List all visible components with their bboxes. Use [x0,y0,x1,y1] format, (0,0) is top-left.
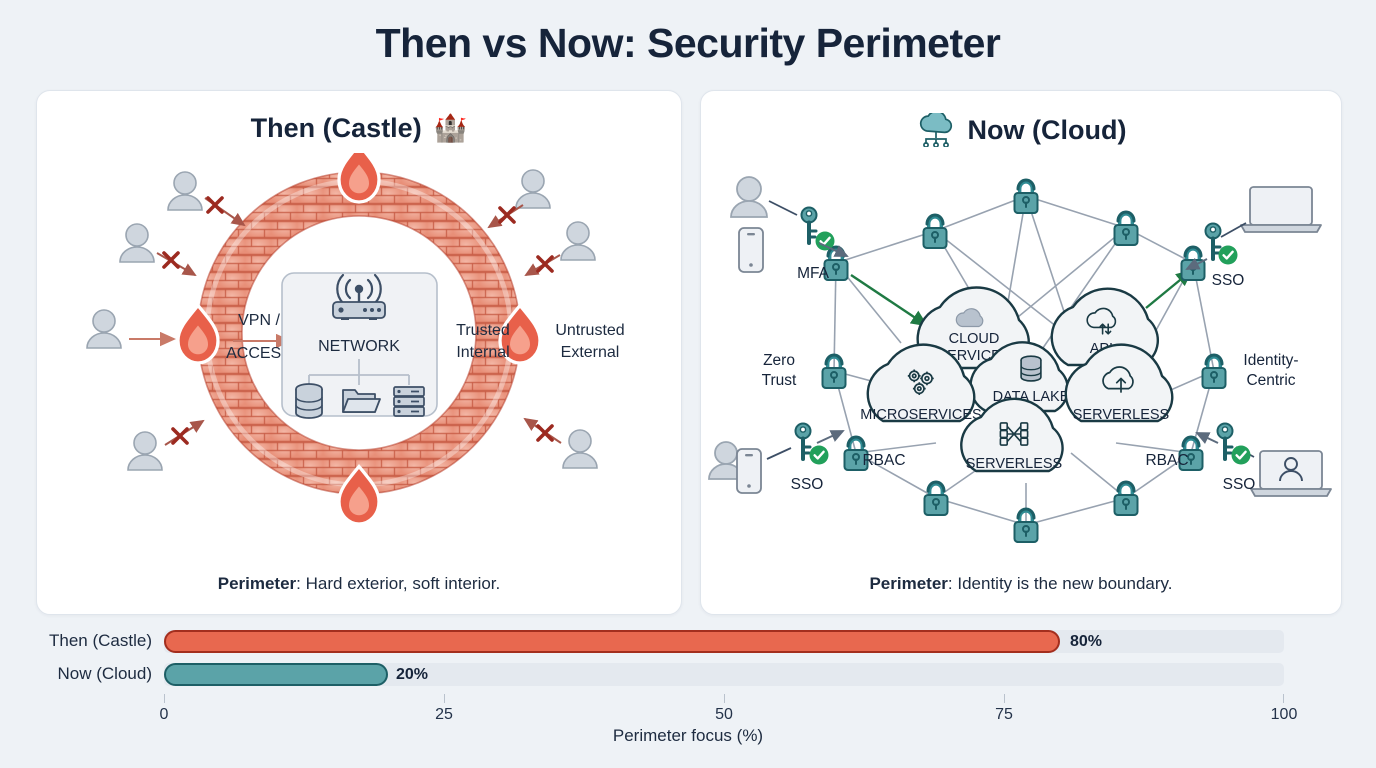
chart-row-now: Now (Cloud) 20% [0,659,1376,689]
panel-then-heading: Then (Castle) 🏰 [37,113,681,144]
perimeter-focus-chart: Then (Castle) 80% Now (Cloud) 20% 0 [0,626,1376,768]
cloud-label-serverless-right: SERVERLESS [1073,407,1169,423]
cloud-label-microservices: MICROSERVICES [860,407,981,423]
chart-bar-now [164,663,388,686]
untrusted-external-label-line2: External [561,344,620,361]
panel-now-caption: Perimeter: Identity is the new boundary. [701,574,1341,594]
user-icon [731,177,767,217]
chart-xtick-75: 75 [995,706,1013,724]
panel-then-heading-label: Then (Castle) [251,113,422,144]
panel-then-caption-label: Perimeter [218,574,296,593]
server-icon [394,387,424,416]
chart-track-now [164,663,1284,686]
actor-sso-right-top: SSO [1187,187,1321,289]
actor-sso-left: SSO RBAC [709,424,906,494]
vpn-access-label-line1: VPN / [238,312,280,329]
panel-now-cloud: Now (Cloud) [700,90,1342,615]
phone-icon [737,449,761,493]
castle-icon: 🏰 [434,115,468,142]
castle-diagram-svg: VPN / ACCESS Trusted Internal Untrusted … [37,153,681,563]
chart-xtick-0: 0 [160,706,169,724]
panel-now-heading: Now (Cloud) [701,113,1341,147]
annotation-zero-trust-line1: Zero [763,352,795,369]
database-glyph-icon [1021,356,1041,381]
chart-x-axis: 0 25 50 75 100 [164,694,1284,695]
annotation-sso-right-top: SSO [1212,272,1245,289]
network-box: NETWORK [282,273,437,418]
untrusted-external-label-line1: Untrusted [555,322,624,339]
annotation-sso-right-bottom: SSO [1223,476,1256,493]
chart-xtick-25: 25 [435,706,453,724]
cloud-mesh-svg: CLOUD SERVICES APIs [701,153,1341,563]
annotation-identity-centric-line2: Centric [1246,372,1295,389]
annotation-mfa: MFA [797,265,830,282]
trusted-internal-label-line1: Trusted [456,322,510,339]
annotation-zero-trust-line2: Trust [762,372,797,389]
phone-icon [739,228,763,272]
panel-now-caption-text: : Identity is the new boundary. [948,574,1173,593]
panel-now-heading-label: Now (Cloud) [968,115,1127,146]
cloud-label-serverless-bottom: SERVERLESS [966,456,1062,472]
cloud-mesh-diagram: CLOUD SERVICES APIs [701,153,1341,563]
annotation-identity-centric-line1: Identity- [1243,352,1298,369]
chart-value-then: 80% [1070,630,1102,653]
annotation-sso-left: SSO [791,476,824,493]
chart-xtick-50: 50 [715,706,733,724]
laptop-icon [1241,187,1321,232]
castle-diagram: VPN / ACCESS Trusted Internal Untrusted … [37,153,681,563]
panel-then-caption: Perimeter: Hard exterior, soft interior. [37,574,681,594]
chart-label-then: Then (Castle) [0,626,152,656]
chart-x-axis-title: Perimeter focus (%) [0,726,1376,746]
cloud-network-icon [916,113,956,147]
network-box-label: NETWORK [318,338,400,355]
panel-now-caption-label: Perimeter [869,574,947,593]
actor-sso-right-bottom: SSO RBAC [1145,424,1331,497]
folder-icon [343,390,380,412]
chart-xtick-100: 100 [1271,706,1298,724]
panel-then-castle: Then (Castle) 🏰 [36,90,682,615]
trusted-internal-label-line2: Internal [456,344,509,361]
page-root: Then vs Now: Security Perimeter Then (Ca… [0,0,1376,768]
chart-row-then: Then (Castle) 80% [0,626,1376,656]
chart-label-now: Now (Cloud) [0,659,152,689]
chart-value-now: 20% [396,663,428,686]
panel-then-caption-text: : Hard exterior, soft interior. [296,574,500,593]
annotation-rbac-right: RBAC [1145,452,1188,469]
page-title: Then vs Now: Security Perimeter [0,20,1376,67]
cloud-label-cloud-services-1: CLOUD [949,331,1000,347]
chart-bar-then [164,630,1060,653]
laptop-user-icon [1251,451,1331,496]
chart-track-then [164,630,1284,653]
annotation-rbac-left: RBAC [862,452,905,469]
database-icon [296,384,322,418]
